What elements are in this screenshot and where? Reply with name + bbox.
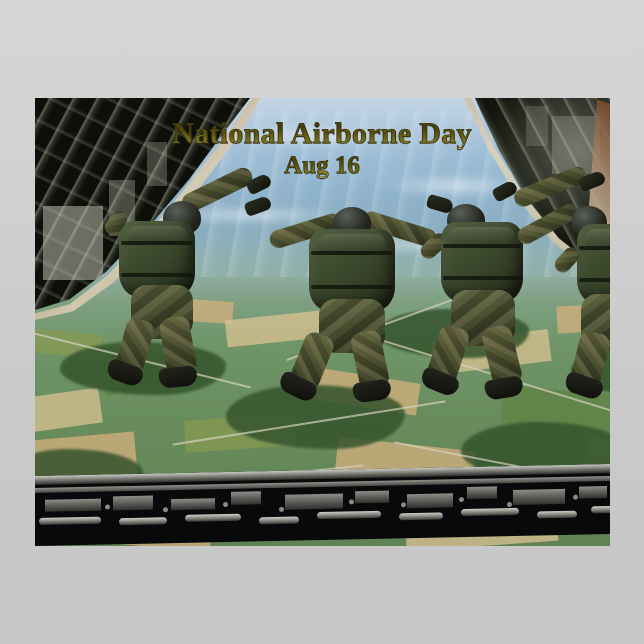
jumper-left (97, 193, 262, 398)
jumper-center-right-boot-right (484, 375, 525, 401)
jumper-right-edge (535, 190, 610, 400)
cloud-blob (225, 125, 395, 147)
aircraft-cargo-ramp (35, 464, 610, 546)
poster-photo (35, 98, 610, 546)
jumper-right-edge-parachute-pack (577, 224, 610, 304)
poster-canvas: National Airborne Day Aug 16 (0, 0, 644, 644)
jumper-left-boot-far (158, 365, 198, 389)
